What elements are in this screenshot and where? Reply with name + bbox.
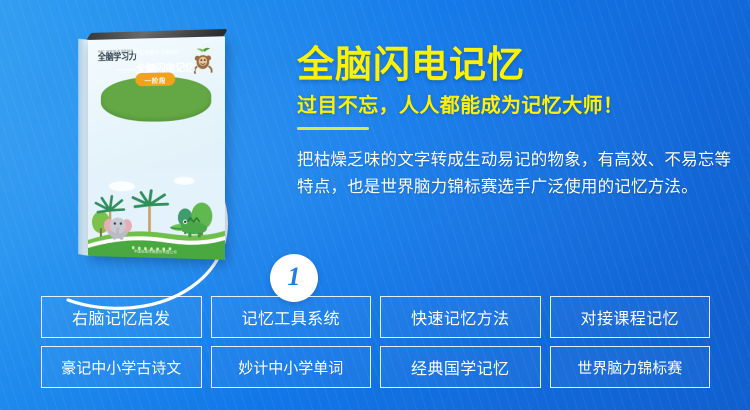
divider-rule	[297, 127, 369, 130]
book-cover: IMC WHOLE BRAIN 全脑学习力	[88, 36, 225, 260]
feature-tag[interactable]: 豪记中小学古诗文	[41, 346, 202, 388]
feature-tag[interactable]: 快速记忆方法	[380, 296, 541, 338]
feature-tag[interactable]: 妙计中小学单词	[211, 346, 372, 388]
feature-tag-grid: 右脑记忆启发记忆工具系统快速记忆方法对接课程记忆豪记中小学古诗文妙计中小学单词经…	[41, 296, 710, 388]
promo-banner: IMC WHOLE BRAIN 全脑学习力	[0, 0, 750, 410]
step-number: 1	[288, 264, 301, 290]
feature-tag[interactable]: 对接课程记忆	[550, 296, 711, 338]
feature-tag[interactable]: 记忆工具系统	[211, 296, 372, 338]
stage-badge: 一阶段	[135, 72, 175, 86]
step-number-badge: 1	[270, 254, 318, 302]
product-box: IMC WHOLE BRAIN 全脑学习力	[74, 32, 234, 267]
feature-tag[interactable]: 右脑记忆启发	[41, 296, 202, 338]
copy-block: 全脑闪电记忆 过目不忘，人人都能成为记忆大师！ 把枯燥乏味的文字转成生动易记的物…	[297, 46, 747, 200]
feature-tag[interactable]: 世界脑力锦标赛	[550, 346, 711, 388]
cover-illustration	[88, 170, 225, 260]
description-text: 把枯燥乏味的文字转成生动易记的物象，有高效、不易忘等特点，也是世界脑力锦标赛选手…	[297, 147, 747, 200]
subheadline: 过目不忘，人人都能成为记忆大师！	[297, 94, 747, 118]
book-box-3d: IMC WHOLE BRAIN 全脑学习力	[88, 36, 225, 260]
headline: 全脑闪电记忆	[297, 46, 747, 85]
feature-tag[interactable]: 经典国学记忆	[380, 346, 541, 388]
